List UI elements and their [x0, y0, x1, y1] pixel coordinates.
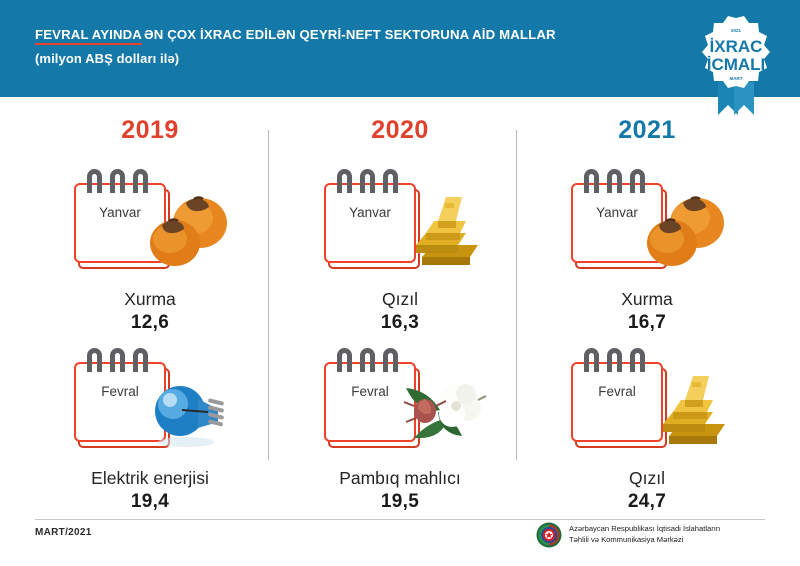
badge-bottom-text: MART	[730, 76, 743, 81]
calendar-ring	[607, 348, 622, 372]
badge-top-text: 2021	[731, 28, 742, 33]
year-column-2021: 2021 Yanvar	[527, 112, 767, 502]
item-2020-january: Yanvar	[280, 171, 520, 334]
item-2020-february: Fevral	[280, 350, 520, 513]
calendar-ring	[87, 348, 102, 372]
item-value: 24,7	[628, 491, 666, 513]
item-2021-february: Fevral	[527, 350, 767, 513]
item-value: 19,5	[381, 491, 419, 513]
header-title-block: FEVRAL AYINDAƏN ÇOX İXRAC EDİLƏN QEYRİ-N…	[35, 27, 556, 66]
badge-line2: İCMALI	[707, 55, 766, 74]
year-heading-2020: 2020	[371, 118, 429, 143]
header-banner: FEVRAL AYINDAƏN ÇOX İXRAC EDİLƏN QEYRİ-N…	[0, 0, 800, 97]
item-value: 16,7	[628, 312, 666, 334]
item-2019-january: Yanvar	[30, 171, 270, 334]
item-label: Pambıq mahlıcı	[339, 468, 461, 488]
item-artwork: Yanvar	[310, 171, 490, 283]
item-value: 16,3	[381, 312, 419, 334]
gold-bars-icon	[392, 187, 488, 279]
item-label: Elektrik enerjisi	[91, 468, 209, 488]
item-label: Xurma	[621, 289, 673, 309]
azerbaijan-state-emblem-icon	[536, 522, 562, 548]
item-artwork: Fevral	[310, 350, 490, 462]
infographic-page: FEVRAL AYINDAƏN ÇOX İXRAC EDİLƏN QEYRİ-N…	[0, 0, 800, 566]
calendar-ring	[360, 348, 375, 372]
calendar-ring	[607, 169, 622, 193]
page-subtitle: (milyon ABŞ dolları ilə)	[35, 51, 556, 66]
persimmon-icon	[142, 187, 238, 279]
calendar-ring	[87, 169, 102, 193]
item-label: Qızıl	[382, 289, 418, 309]
footer-date: MART/2021	[35, 527, 92, 538]
item-value: 12,6	[131, 312, 169, 334]
item-artwork: Fevral	[60, 350, 240, 462]
item-artwork: Yanvar	[60, 171, 240, 283]
calendar-ring	[110, 348, 125, 372]
footer-organization-line2: Təhlili və Kommunikasiya Mərkəzi	[569, 535, 720, 546]
item-label: Xurma	[124, 289, 176, 309]
year-column-2020: 2020 Yanvar	[280, 112, 520, 502]
footer-organization: Azərbaycan Respublikası İqtisadi İslahat…	[536, 522, 720, 548]
page-title: FEVRAL AYINDAƏN ÇOX İXRAC EDİLƏN QEYRİ-N…	[35, 27, 556, 42]
calendar-ring	[584, 348, 599, 372]
item-2019-february: Fevral	[30, 350, 270, 513]
persimmon-icon	[639, 187, 735, 279]
title-rest: ƏN ÇOX İXRAC EDİLƏN QEYRİ-NEFT SEKTORUNA…	[144, 27, 556, 42]
calendar-ring	[337, 348, 352, 372]
item-artwork: Yanvar	[557, 171, 737, 283]
calendar-ring	[360, 169, 375, 193]
item-value: 19,4	[131, 491, 169, 513]
year-columns: 2019 Yanvar	[0, 112, 800, 502]
year-heading-2021: 2021	[618, 118, 676, 143]
badge-line1: İXRAC	[710, 37, 763, 56]
ixrac-icmali-badge: 2021 İXRAC İCMALI MART	[688, 12, 784, 116]
calendar-ring	[110, 169, 125, 193]
calendar-ring	[337, 169, 352, 193]
title-emphasis: FEVRAL AYINDA	[35, 27, 142, 45]
cotton-icon	[392, 366, 488, 458]
footer-divider	[35, 519, 765, 520]
year-heading-2019: 2019	[121, 118, 179, 143]
footer-organization-text: Azərbaycan Respublikası İqtisadi İslahat…	[569, 524, 720, 546]
gold-bars-icon	[639, 366, 735, 458]
footer-organization-line1: Azərbaycan Respublikası İqtisadi İslahat…	[569, 524, 720, 535]
calendar-ring	[584, 169, 599, 193]
item-2021-january: Yanvar	[527, 171, 767, 334]
item-artwork: Fevral	[557, 350, 737, 462]
item-label: Qızıl	[629, 468, 665, 488]
badge-graphic: 2021 İXRAC İCMALI MART	[688, 12, 784, 116]
year-column-2019: 2019 Yanvar	[30, 112, 270, 502]
lightbulb-icon	[142, 366, 238, 458]
